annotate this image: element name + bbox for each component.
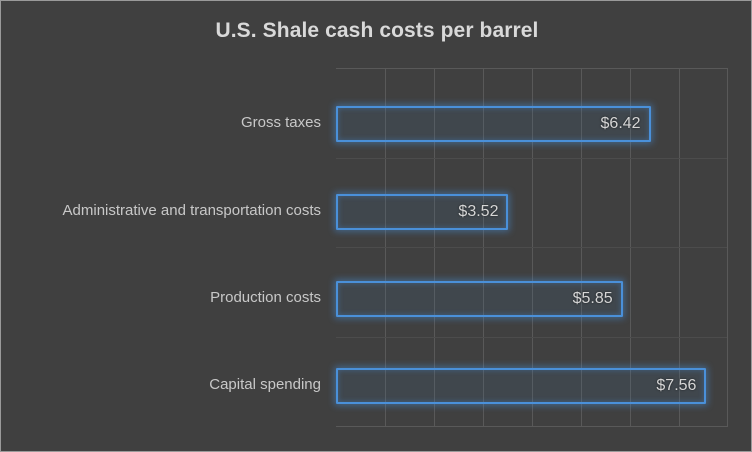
chart-row-gross-taxes: Gross taxes $6.42 (1, 68, 752, 158)
chart-row-admin-transport: Administrative and transportation costs … (1, 158, 752, 248)
chart-row-production-costs: Production costs $5.85 (1, 247, 752, 337)
category-label-capital-spending: Capital spending (1, 376, 321, 394)
bar-glow (338, 370, 704, 402)
bar-admin-transport[interactable]: $3.52 (336, 194, 508, 230)
bar-value-production-costs: $5.85 (573, 290, 613, 308)
chart-title: U.S. Shale cash costs per barrel (1, 19, 752, 43)
chart-row-capital-spending: Capital spending $7.56 (1, 337, 752, 427)
bar-value-gross-taxes: $6.42 (601, 115, 641, 133)
bar-gross-taxes[interactable]: $6.42 (336, 106, 651, 142)
bar-production-costs[interactable]: $5.85 (336, 281, 623, 317)
chart-screenshot: U.S. Shale cash costs per barrel Gross t… (0, 0, 752, 452)
bar-value-capital-spending: $7.56 (656, 377, 696, 395)
category-label-production-costs: Production costs (1, 289, 321, 307)
category-label-admin-transport: Administrative and transportation costs (1, 202, 321, 220)
category-label-gross-taxes: Gross taxes (1, 114, 321, 132)
bar-capital-spending[interactable]: $7.56 (336, 368, 706, 404)
bar-value-admin-transport: $3.52 (458, 203, 498, 221)
